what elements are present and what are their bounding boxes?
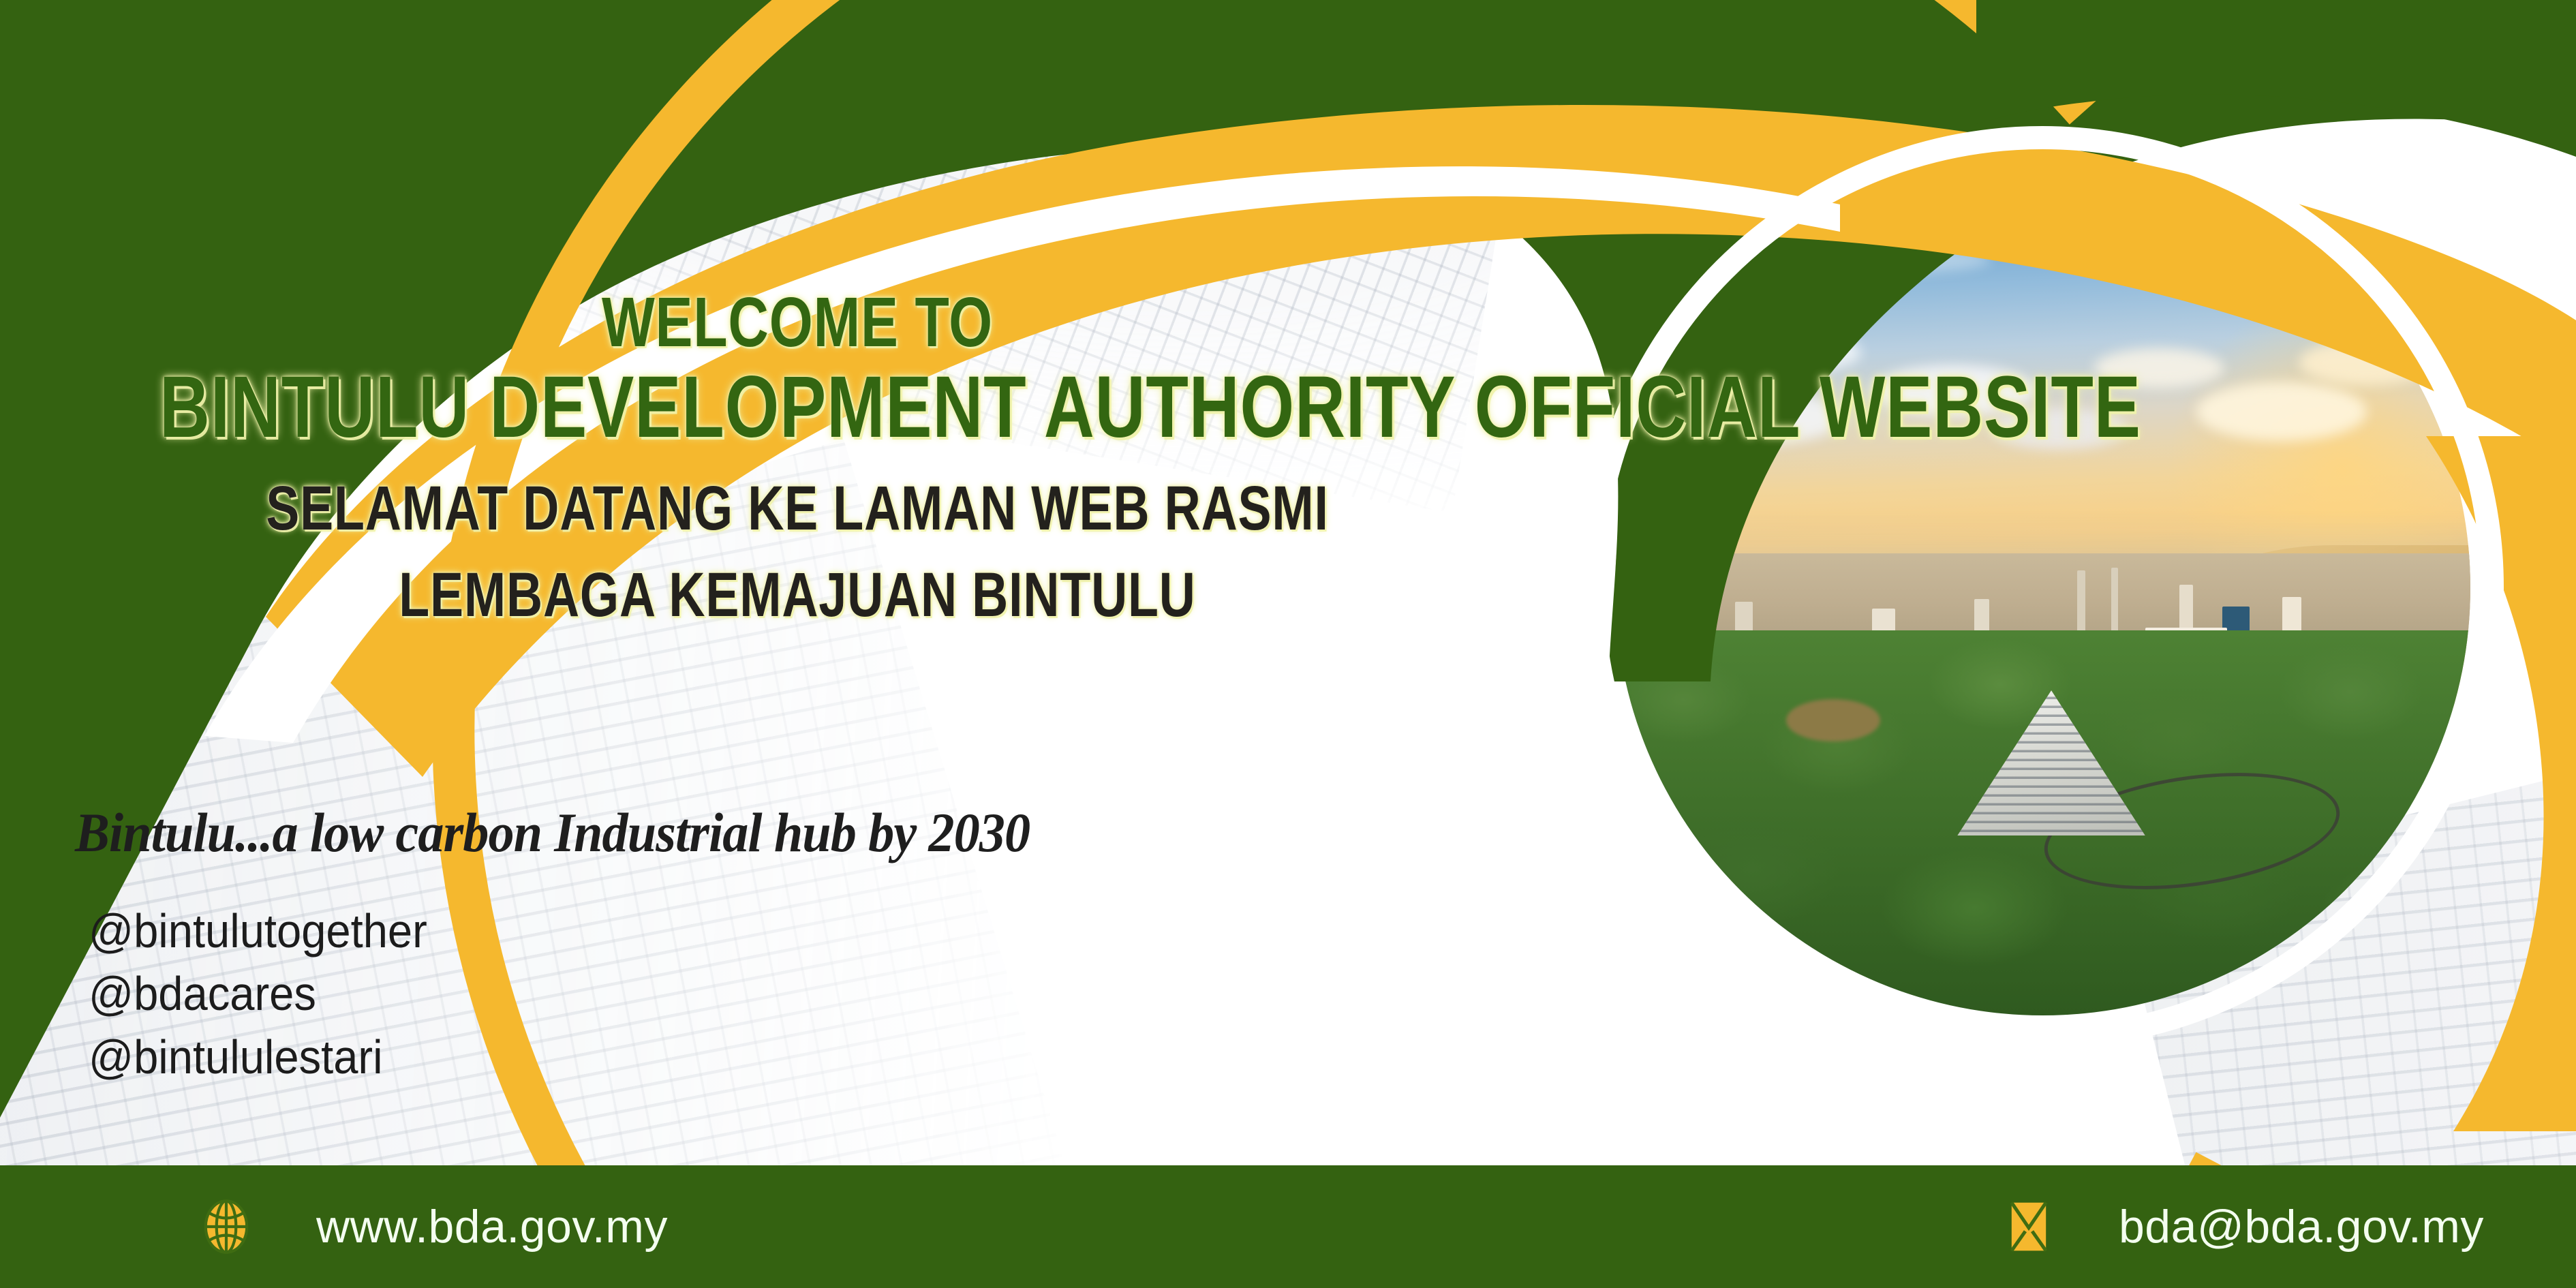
website-label: www.bda.gov.my [316, 1200, 668, 1253]
background-artwork [0, 0, 2576, 1288]
website-contact[interactable]: www.bda.gov.my [198, 1198, 668, 1255]
social-handles-list: @bintulutogether @bdacares @bintululesta… [89, 900, 453, 1088]
page-title: BINTULU DEVELOPMENT AUTHORITY OFFICIAL W… [159, 363, 1435, 453]
social-handle-item[interactable]: @bintulutogether [89, 900, 427, 962]
email-contact[interactable]: bda@bda.gov.my [2000, 1198, 2484, 1255]
bda-welcome-banner: WELCOME TO BINTULU DEVELOPMENT AUTHORITY… [0, 0, 2576, 1288]
envelope-icon [2000, 1198, 2057, 1255]
globe-icon [198, 1198, 255, 1255]
headline-block: WELCOME TO BINTULU DEVELOPMENT AUTHORITY… [0, 286, 1595, 628]
email-label: bda@bda.gov.my [2119, 1200, 2484, 1253]
welcome-heading: WELCOME TO [159, 286, 1435, 358]
social-handle-item[interactable]: @bdacares [89, 962, 427, 1025]
vision-tagline: Bintulu...a low carbon Industrial hub by… [75, 801, 1030, 865]
decorative-shapes [0, 0, 2576, 1288]
subtitle-malay-line2: LEMBAGA KEMAJUAN BINTULU [159, 564, 1435, 628]
subtitle-malay-line1: SELAMAT DATANG KE LAMAN WEB RASMI [159, 477, 1435, 541]
footer-contact-bar: www.bda.gov.my bda@bda.gov.my [0, 1165, 2576, 1288]
social-handle-item[interactable]: @bintululestari [89, 1026, 427, 1088]
